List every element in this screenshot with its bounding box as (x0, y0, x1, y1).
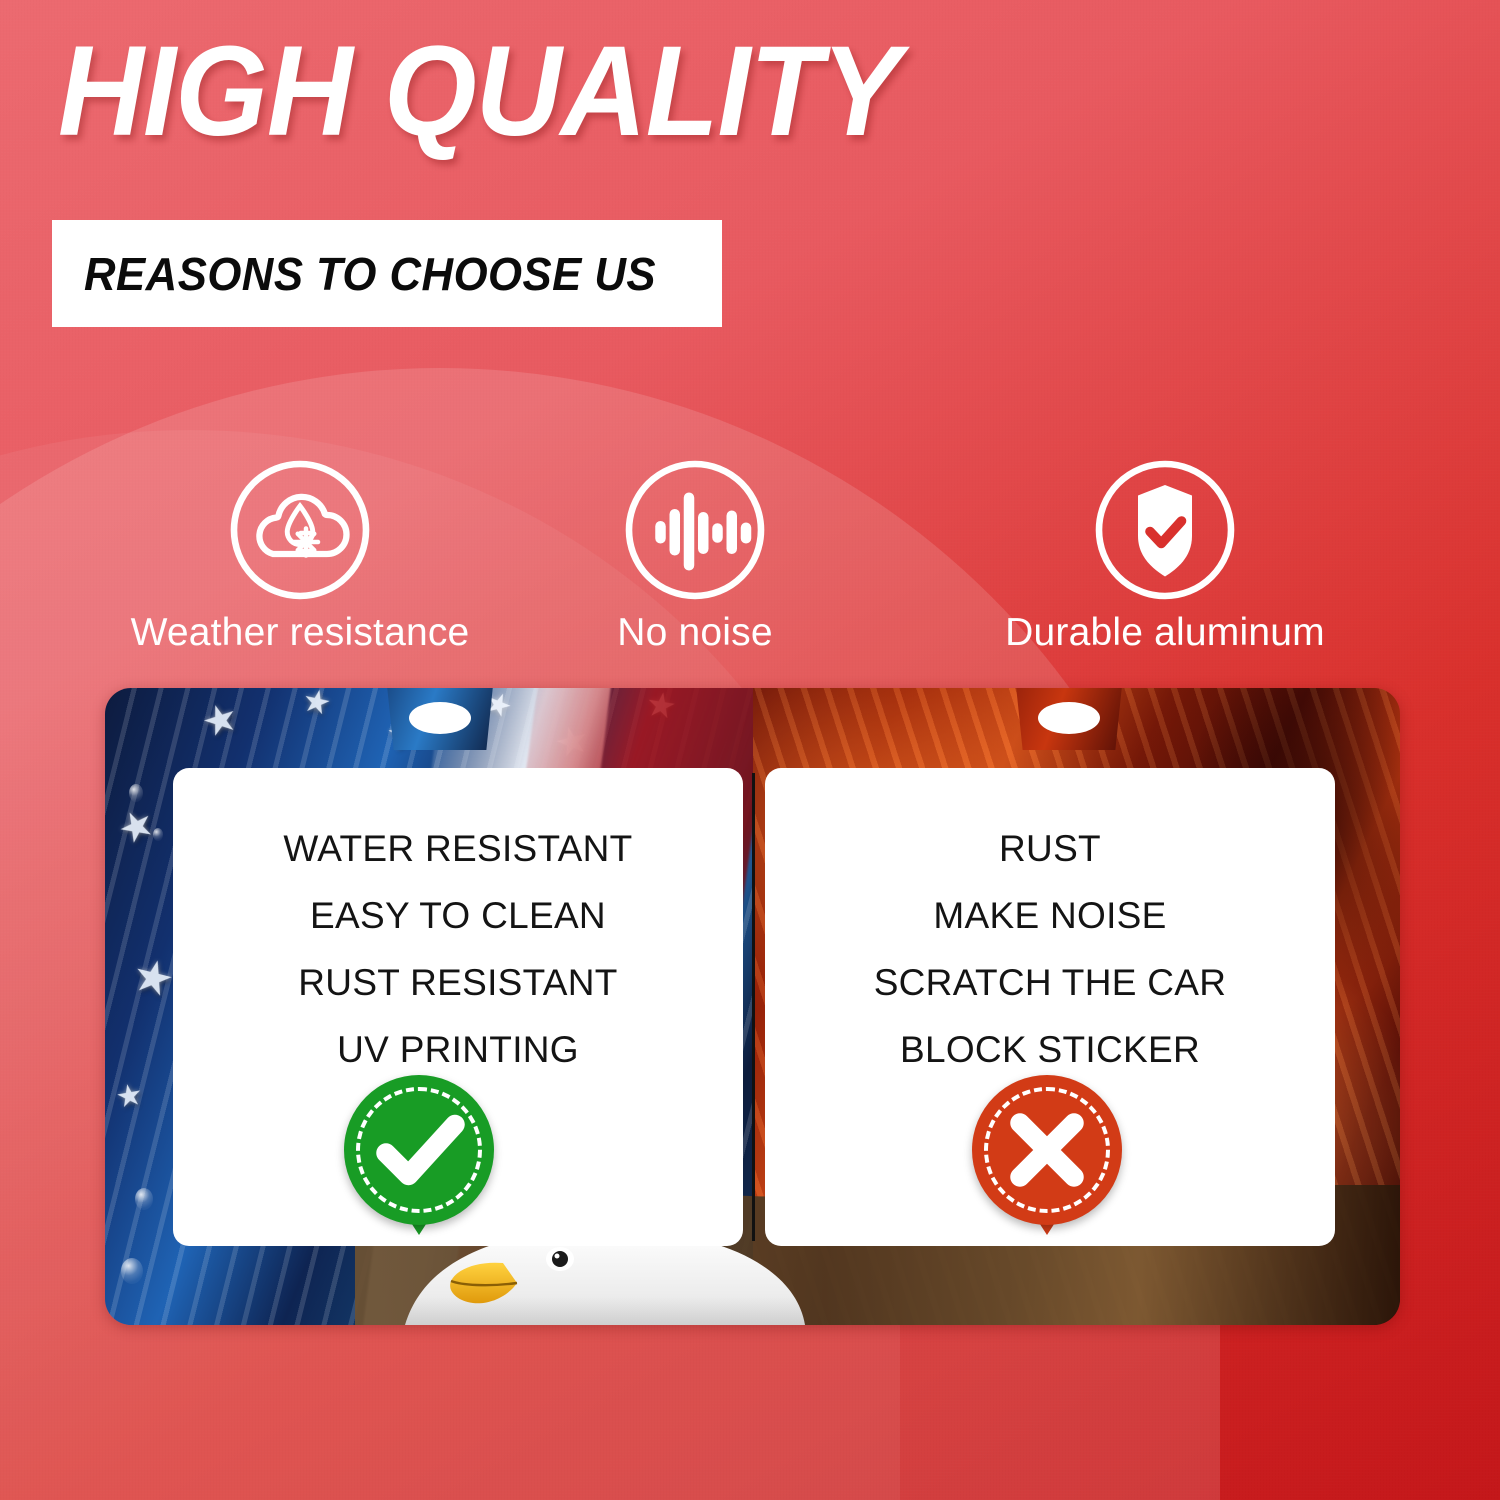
sound-wave-icon (620, 455, 770, 605)
feature-no-noise: No noise (510, 455, 880, 655)
pros-list: WATER RESISTANT EASY TO CLEAN RUST RESIS… (173, 830, 743, 1098)
page-title: HIGH QUALITY (58, 28, 900, 156)
cons-badge (972, 1075, 1122, 1225)
cloud-droplet-snowflake-icon (225, 455, 375, 605)
list-item: RUST (765, 830, 1335, 867)
infographic-canvas: HIGH QUALITY REASONS TO CHOOSE US (0, 0, 1500, 1500)
panel-divider (752, 773, 755, 1241)
cross-mark-icon (972, 1075, 1122, 1225)
subtitle-band: REASONS TO CHOOSE US (52, 220, 722, 327)
feature-durable-aluminum: Durable aluminum (950, 455, 1380, 655)
list-item: BLOCK STICKER (765, 1031, 1335, 1068)
license-plate-frame: WATER RESISTANT EASY TO CLEAN RUST RESIS… (105, 688, 1400, 1325)
check-mark-icon (344, 1075, 494, 1225)
mounting-hole (409, 702, 471, 734)
shield-check-icon (1090, 455, 1240, 605)
list-item: RUST RESISTANT (173, 964, 743, 1001)
list-item: MAKE NOISE (765, 897, 1335, 934)
mounting-tab-left (379, 688, 501, 750)
subtitle-text: REASONS TO CHOOSE US (84, 247, 656, 301)
feature-label: No noise (617, 611, 773, 655)
mounting-hole (1038, 702, 1100, 734)
feature-label: Durable aluminum (1005, 611, 1325, 655)
feature-weather-resistance: Weather resistance (90, 455, 510, 655)
pros-badge (344, 1075, 494, 1225)
cons-list: RUST MAKE NOISE SCRATCH THE CAR BLOCK ST… (765, 830, 1335, 1098)
list-item: EASY TO CLEAN (173, 897, 743, 934)
list-item: UV PRINTING (173, 1031, 743, 1068)
feature-label: Weather resistance (131, 611, 470, 655)
list-item: WATER RESISTANT (173, 830, 743, 867)
list-item: SCRATCH THE CAR (765, 964, 1335, 1001)
mounting-tab-right (1008, 688, 1130, 750)
feature-row: Weather resistance No noise (90, 455, 1420, 670)
